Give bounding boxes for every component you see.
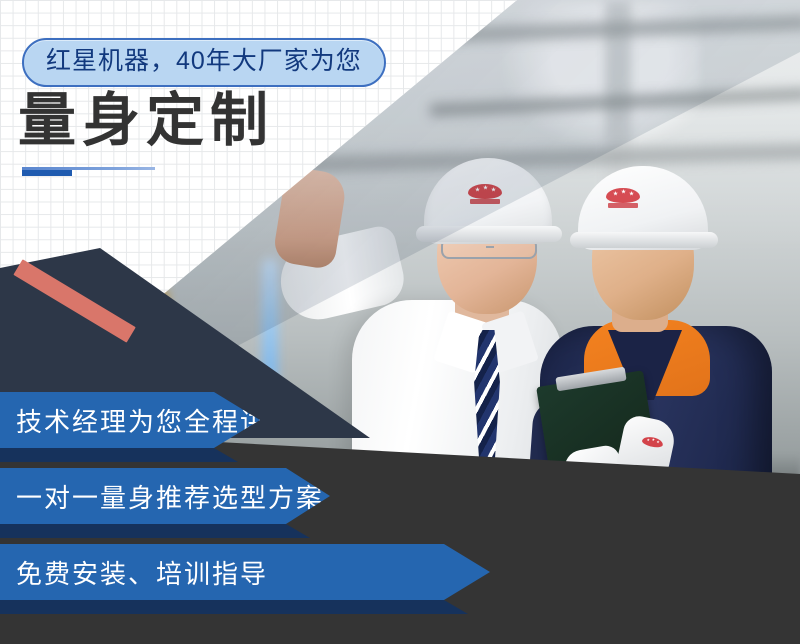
logo-bubble-shape	[641, 435, 664, 448]
feature-banner-1: 技术经理为您全程讲解	[0, 392, 260, 448]
title-underline-thick	[22, 170, 72, 176]
logo-wordmark	[608, 203, 638, 208]
glove-logo-icon	[640, 435, 663, 453]
page-title: 量身定制	[18, 88, 274, 155]
feature-banner-3-label: 免费安装、培训指导	[0, 554, 268, 591]
worker-hardhat-brim	[570, 232, 718, 248]
feature-banner-3: 免费安装、培训指导	[0, 544, 490, 600]
feature-banner-2-label: 一对一量身推荐选型方案	[0, 478, 324, 515]
brand-tagline-pill: 红星机器，40年大厂家为您	[22, 38, 386, 87]
logo-bubble-shape	[606, 188, 640, 203]
feature-banner-2: 一对一量身推荐选型方案	[0, 468, 330, 524]
feature-banner-shadow	[0, 600, 468, 614]
feature-banner-shadow	[0, 524, 310, 538]
hardhat-logo-icon	[606, 188, 640, 210]
promo-banner: 红星机器，40年大厂家为您 量身定制 技术经理为您全程讲解 一对一量身推荐选型方…	[0, 0, 800, 644]
feature-banner-shadow	[0, 448, 238, 462]
